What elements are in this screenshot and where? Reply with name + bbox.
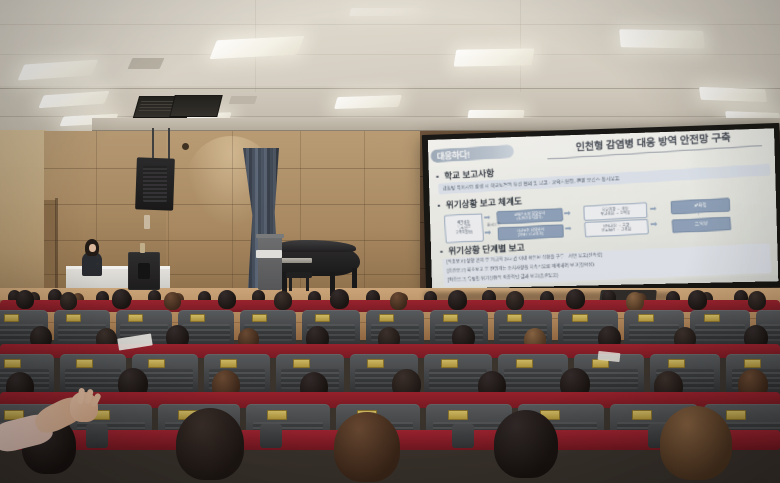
seat-row-foreground <box>0 430 780 483</box>
presenter-arm <box>94 258 102 263</box>
ceiling-grid-line <box>520 0 521 92</box>
seat-number-plate <box>704 314 720 322</box>
wood-seam <box>44 168 422 169</box>
seat-number-plate <box>220 359 237 368</box>
slide-bullet-2: 위기상황 보고 체계도 <box>437 195 522 212</box>
seat-number-plate <box>632 410 652 420</box>
flow-connector-icon: ＋ <box>695 211 702 218</box>
audience-head <box>60 292 77 310</box>
flow-row1-box1: 교육지원청 담당부서 (학생건강지원과) <box>496 208 563 225</box>
ceiling-recess <box>128 58 165 69</box>
seat-number-plate <box>379 314 394 322</box>
flow-arrow-icon: ➡ <box>484 229 491 237</box>
audience-head-foreground <box>660 406 732 480</box>
seat-number-plate <box>4 359 21 368</box>
wood-seam-vertical <box>364 131 365 306</box>
audience-head <box>390 292 407 310</box>
slide-bullet-3-label: 위기상황 단계별 보고 <box>448 242 525 256</box>
seat-number-plate <box>572 314 588 322</box>
flow-source-box: 위기상황 보고 기관 (학교, 교육지원청) <box>444 213 484 243</box>
seat-number-plate <box>448 410 468 420</box>
flow-mid-label: 동시보고 <box>487 222 501 228</box>
ceiling-light-panel <box>349 8 421 16</box>
audience-head <box>566 289 585 309</box>
flow-row2-box1: 시교육청 담당부서 (체육건강교육과) <box>497 224 564 241</box>
seat-number-plate <box>66 314 81 322</box>
seat-number-plate <box>315 314 330 322</box>
flow-mid-label-text: 동시보고 <box>487 222 501 227</box>
seat-number-plate <box>293 359 310 368</box>
seat-number-plate <box>441 359 458 368</box>
seat-number-plate <box>128 314 143 322</box>
flow-row1-box2-label: 담당과장 → 국장 부교육감 → 교육감 <box>600 207 630 216</box>
audience-head-foreground <box>176 408 244 480</box>
seat-number-plate <box>726 410 746 420</box>
audience-head <box>626 292 644 311</box>
seat-number-plate <box>668 359 685 368</box>
ceiling-recess <box>229 96 258 104</box>
audience-head <box>748 291 766 310</box>
wall-sensor-icon <box>182 143 189 150</box>
speaker-driver <box>143 166 167 202</box>
wall-left-panel <box>0 130 46 302</box>
seat-number-plate <box>148 359 165 368</box>
lectern-top <box>256 234 284 238</box>
slide-section-pill-label: 대응하다! <box>437 148 470 162</box>
flow-arrow-icon: ➡ <box>564 209 571 218</box>
ceiling-light-panel <box>699 87 767 102</box>
auditorium-photo: 대응하다! 인천형 감염병 대응 방역 안전망 구축 학교 보고사항 감염병 특… <box>0 0 780 483</box>
slide-bullet-1-label: 학교 보고사항 <box>444 168 494 181</box>
seat-number-plate <box>638 314 654 322</box>
presentation-slide: 대응하다! 인천형 감염병 대응 방역 안전망 구축 학교 보고사항 감염병 특… <box>428 128 778 288</box>
ceiling-light-panel <box>334 95 402 109</box>
flow-row2-box2-label: 담당과장 → 국장 부교육감 → 교육감 <box>601 224 631 233</box>
audience-head-foreground <box>494 410 558 478</box>
flow-row1-box2: 담당과장 → 국장 부교육감 → 교육감 <box>583 202 647 221</box>
audience-head <box>688 290 707 310</box>
flow-arrow-icon: ➡ <box>483 214 490 222</box>
seat-armrest <box>260 424 282 448</box>
flow-connector-label: ＋ <box>695 211 702 218</box>
flow-row2-box2: 담당과장 → 국장 부교육감 → 교육감 <box>584 219 649 238</box>
ceiling-light-panel <box>454 48 535 66</box>
wood-seam <box>44 240 422 241</box>
seat-armrest <box>452 424 474 448</box>
floor-speaker-driver <box>138 263 150 279</box>
flow-arrow-icon: ➡ <box>564 225 571 234</box>
flow-row1-box1-label: 교육지원청 담당부서 (학생건강지원과) <box>514 212 545 221</box>
wood-seam-vertical <box>300 131 301 306</box>
wood-seam <box>44 204 422 205</box>
seat-number-plate <box>443 314 458 322</box>
flow-source-label: 위기상황 보고 기관 (학교, 교육지원청) <box>455 221 473 236</box>
audience-head <box>506 291 524 310</box>
flow-arrow-icon: ➡ <box>649 205 657 214</box>
flow-row1-box3-label: 교육청 <box>694 203 707 208</box>
seat-number-plate <box>367 359 384 368</box>
flow-row2-box1-label: 시교육청 담당부서 (체육건강교육과) <box>517 228 545 236</box>
audience-head-foreground <box>334 412 400 482</box>
flow-row2-box3-label: 교육부 <box>695 222 708 227</box>
audience-head <box>112 289 131 309</box>
seat-number-plate <box>267 410 287 420</box>
ceiling-grid-line <box>0 24 780 25</box>
slide-section-pill: 대응하다! <box>431 144 515 162</box>
audience-head <box>16 290 34 309</box>
audience-head <box>218 290 236 309</box>
seat-number-plate <box>190 314 205 322</box>
ceiling-vent <box>169 95 222 117</box>
lectern-sign <box>256 250 282 258</box>
wall-small-fixture <box>144 215 150 229</box>
seat-armrest <box>86 424 108 448</box>
audience-head <box>330 289 349 309</box>
floor-speaker-stand <box>140 243 145 253</box>
seat-number-plate <box>744 359 761 368</box>
audience-head <box>164 292 181 310</box>
ceiling-grid-line <box>0 54 780 55</box>
projection-screen: 대응하다! 인천형 감염병 대응 방역 안전망 구축 학교 보고사항 감염병 특… <box>428 128 778 289</box>
presenter-face <box>89 244 96 252</box>
seat-number-plate <box>252 314 267 322</box>
lectern <box>258 236 282 290</box>
ceiling-seam <box>0 88 780 89</box>
seat-number-plate <box>76 359 93 368</box>
flow-row2-box3: 교육부 <box>672 217 732 234</box>
seat-number-plate <box>507 314 522 322</box>
seat-number-plate <box>4 314 19 322</box>
audience-head <box>274 291 292 310</box>
audience-head <box>448 290 467 310</box>
seat-number-plate <box>516 359 533 368</box>
wood-seam-vertical <box>232 131 233 306</box>
slide-bullet-2-label: 위기상황 보고 체계도 <box>446 196 523 210</box>
flow-arrow-icon: ➡ <box>650 220 658 229</box>
ceiling-light-panel <box>619 29 705 48</box>
